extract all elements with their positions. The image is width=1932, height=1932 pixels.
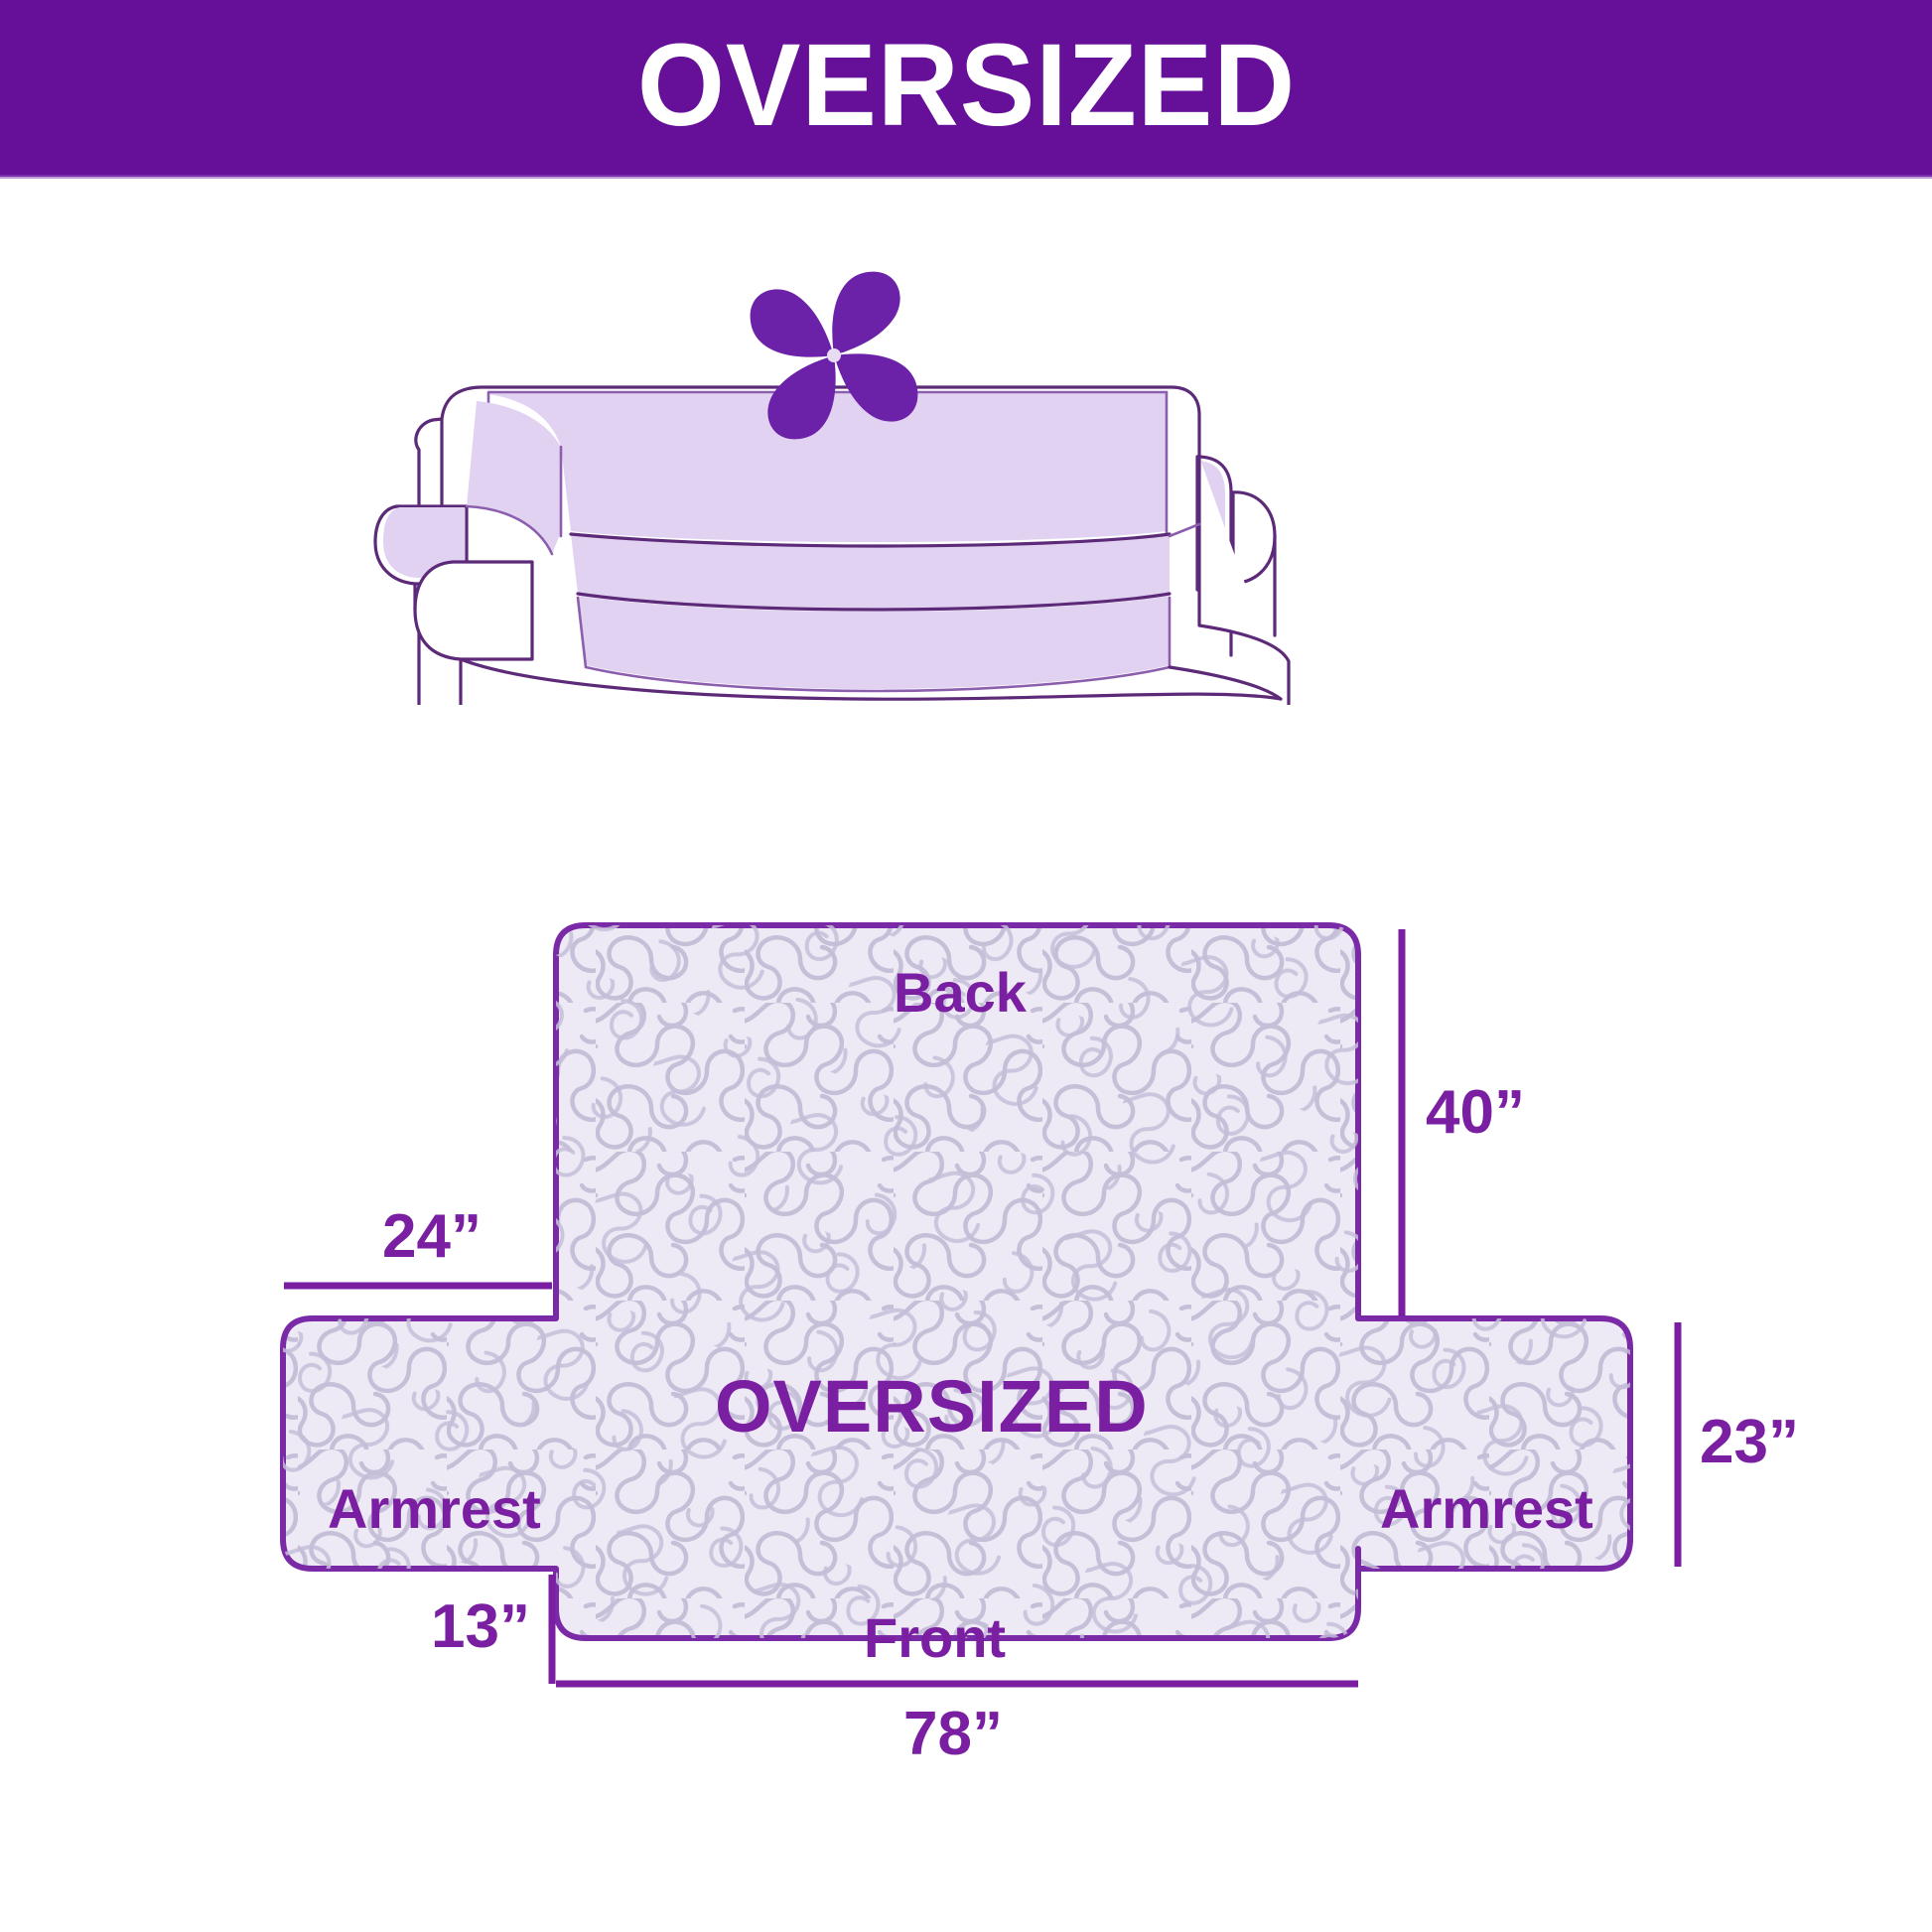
- dimension-40: 40”: [1426, 1082, 1525, 1144]
- header-banner: OVERSIZED: [0, 0, 1932, 177]
- label-armrest-left: Armrest: [328, 1481, 541, 1537]
- label-armrest-right: Armrest: [1380, 1481, 1593, 1537]
- sofa-illustration: .ol{fill:none;stroke:#5C2A78;stroke-widt…: [357, 208, 1350, 705]
- infographic-canvas: OVERSIZED .ol{fill:none;stroke:#5C2A78;s…: [0, 0, 1932, 1932]
- sofa-line-art: .ol{fill:none;stroke:#5C2A78;stroke-widt…: [357, 208, 1350, 705]
- dimension-23: 23”: [1700, 1412, 1799, 1473]
- dimension-78: 78”: [903, 1704, 1003, 1765]
- dimension-24: 24”: [382, 1206, 482, 1268]
- page-title: OVERSIZED: [636, 27, 1295, 144]
- flat-lay-diagram: .panel{fill:url(#quilt);stroke:#7A2AA6;s…: [0, 854, 1932, 1866]
- banner-bottom-edge: [0, 175, 1932, 179]
- dimension-13: 13”: [431, 1596, 530, 1658]
- label-back: Back: [894, 965, 1027, 1021]
- center-label-oversized: OVERSIZED: [715, 1370, 1149, 1444]
- label-front: Front: [864, 1610, 1006, 1666]
